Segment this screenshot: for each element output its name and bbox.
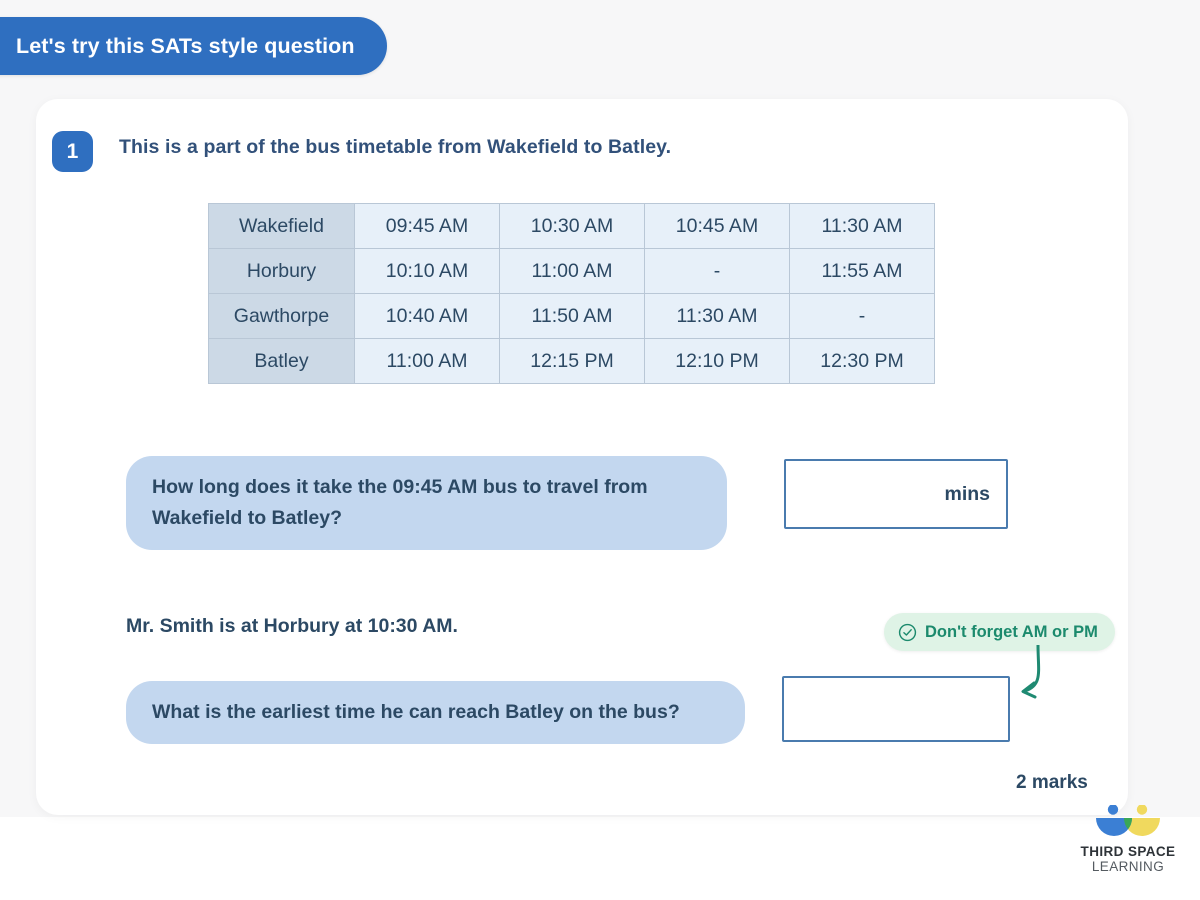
check-circle-icon <box>898 623 917 642</box>
third-space-logo-icon <box>1091 805 1165 839</box>
hint-label: Don't forget AM or PM <box>925 623 1098 642</box>
question-part-a-text: How long does it take the 09:45 AM bus t… <box>126 456 727 550</box>
timetable-cell: 11:55 AM <box>790 249 935 294</box>
timetable-cell: 10:10 AM <box>355 249 500 294</box>
brand-logo: THIRD SPACE LEARNING <box>1063 805 1193 885</box>
question-part-b-statement: Mr. Smith is at Horbury at 10:30 AM. <box>126 615 458 638</box>
timetable-cell: 11:30 AM <box>790 204 935 249</box>
timetable-cell: 12:15 PM <box>500 339 645 384</box>
timetable-stop-label: Gawthorpe <box>209 294 355 339</box>
timetable-cell: 09:45 AM <box>355 204 500 249</box>
timetable-stop-label: Batley <box>209 339 355 384</box>
table-row: Horbury 10:10 AM 11:00 AM - 11:55 AM <box>209 249 935 294</box>
question-prompt: This is a part of the bus timetable from… <box>119 136 671 159</box>
slide-title-label: Let's try this SATs style question <box>16 34 355 59</box>
marks-label: 2 marks <box>1016 772 1088 794</box>
timetable-cell: 11:00 AM <box>355 339 500 384</box>
slide-title-pill: Let's try this SATs style question <box>0 17 387 75</box>
timetable-cell: 12:10 PM <box>645 339 790 384</box>
timetable-cell: 11:30 AM <box>645 294 790 339</box>
answer-unit-label: mins <box>944 483 990 506</box>
question-part-b-text: What is the earliest time he can reach B… <box>126 681 745 744</box>
bus-timetable: Wakefield 09:45 AM 10:30 AM 10:45 AM 11:… <box>208 203 935 384</box>
timetable-stop-label: Horbury <box>209 249 355 294</box>
timetable-cell: 10:40 AM <box>355 294 500 339</box>
timetable-cell: - <box>790 294 935 339</box>
timetable-stop-label: Wakefield <box>209 204 355 249</box>
table-row: Gawthorpe 10:40 AM 11:50 AM 11:30 AM - <box>209 294 935 339</box>
question-number-badge: 1 <box>52 131 93 172</box>
logo-line-1: THIRD SPACE <box>1081 844 1176 859</box>
slide-root: Let's try this SATs style question 1 Thi… <box>0 0 1200 900</box>
logo-line-2: LEARNING <box>1092 859 1164 874</box>
answer-input-part-a[interactable]: mins <box>784 459 1008 529</box>
answer-input-part-b[interactable] <box>782 676 1010 742</box>
timetable-cell: 10:45 AM <box>645 204 790 249</box>
table-row: Wakefield 09:45 AM 10:30 AM 10:45 AM 11:… <box>209 204 935 249</box>
timetable-cell: 11:50 AM <box>500 294 645 339</box>
table-row: Batley 11:00 AM 12:15 PM 12:10 PM 12:30 … <box>209 339 935 384</box>
timetable-cell: 11:00 AM <box>500 249 645 294</box>
curved-arrow-icon <box>1003 645 1093 725</box>
timetable-cell: - <box>645 249 790 294</box>
timetable-cell: 10:30 AM <box>500 204 645 249</box>
timetable-cell: 12:30 PM <box>790 339 935 384</box>
